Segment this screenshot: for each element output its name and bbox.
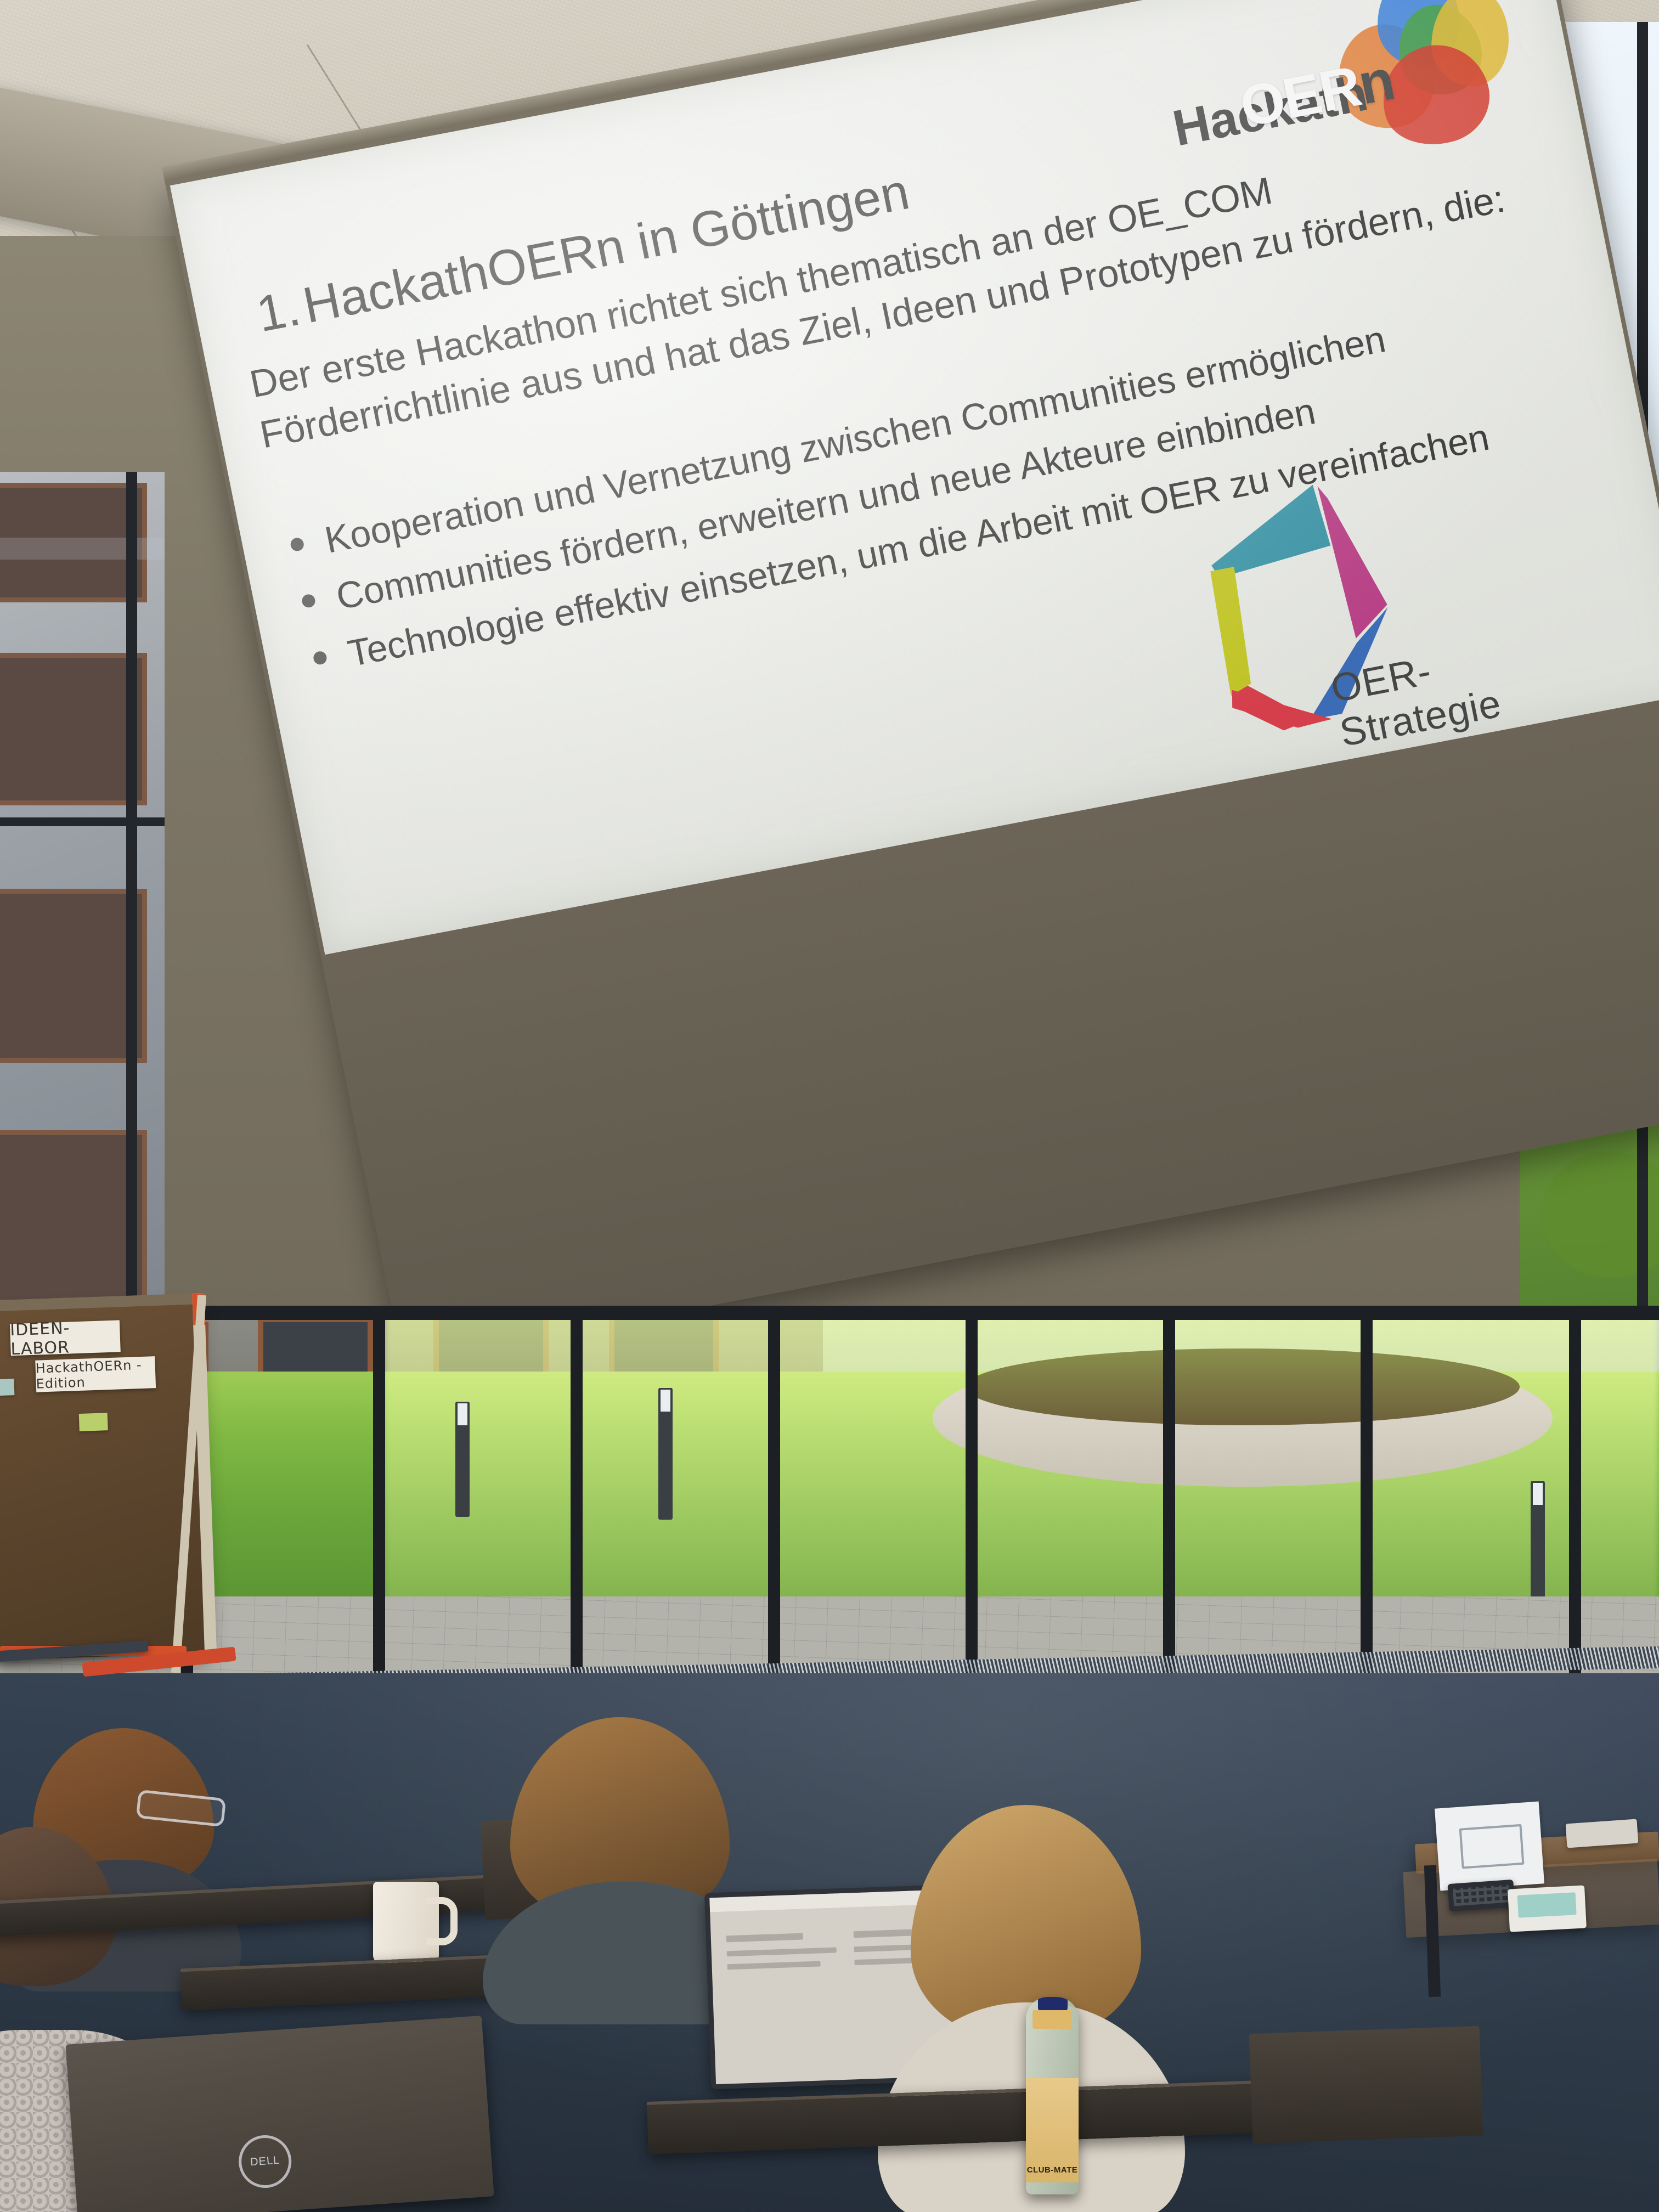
lecture-hall-photo: Hackath OERn 1.HackathOERn in Göttingen … <box>0 0 1659 2212</box>
coffee-mug <box>373 1882 439 1964</box>
projector-remote[interactable] <box>1447 1880 1515 1911</box>
room-control-panel[interactable] <box>1508 1885 1587 1932</box>
bottle-neck-label <box>1032 2010 1072 2029</box>
pinboard-note-ideenlabor: IDEEN-LABOR <box>10 1320 121 1356</box>
bench-back-3 <box>1249 2026 1483 2144</box>
dell-logo-icon <box>237 2134 293 2190</box>
sticky-note-green <box>79 1413 108 1431</box>
sticky-note-teal <box>0 1379 14 1396</box>
planter-soil <box>966 1348 1520 1425</box>
projection-screen: Hackath OERn 1.HackathOERn in Göttingen … <box>165 0 1659 1364</box>
bottle-cap <box>1038 1997 1068 2011</box>
left-window <box>0 472 165 1361</box>
bottle-label <box>1026 2078 1079 2182</box>
logo-oer-text: OER <box>1235 54 1365 139</box>
desk-speaker <box>1566 1819 1639 1848</box>
control-panel-display <box>1517 1893 1576 1918</box>
printed-sheet <box>1435 1802 1544 1891</box>
bollard-light-2 <box>455 1402 470 1517</box>
bollard-light-1 <box>658 1388 673 1520</box>
pinboard-note-edition: HackathOERn - Edition <box>35 1356 156 1392</box>
dell-laptop[interactable] <box>65 2016 494 2212</box>
club-mate-bottle <box>1026 1997 1079 2194</box>
